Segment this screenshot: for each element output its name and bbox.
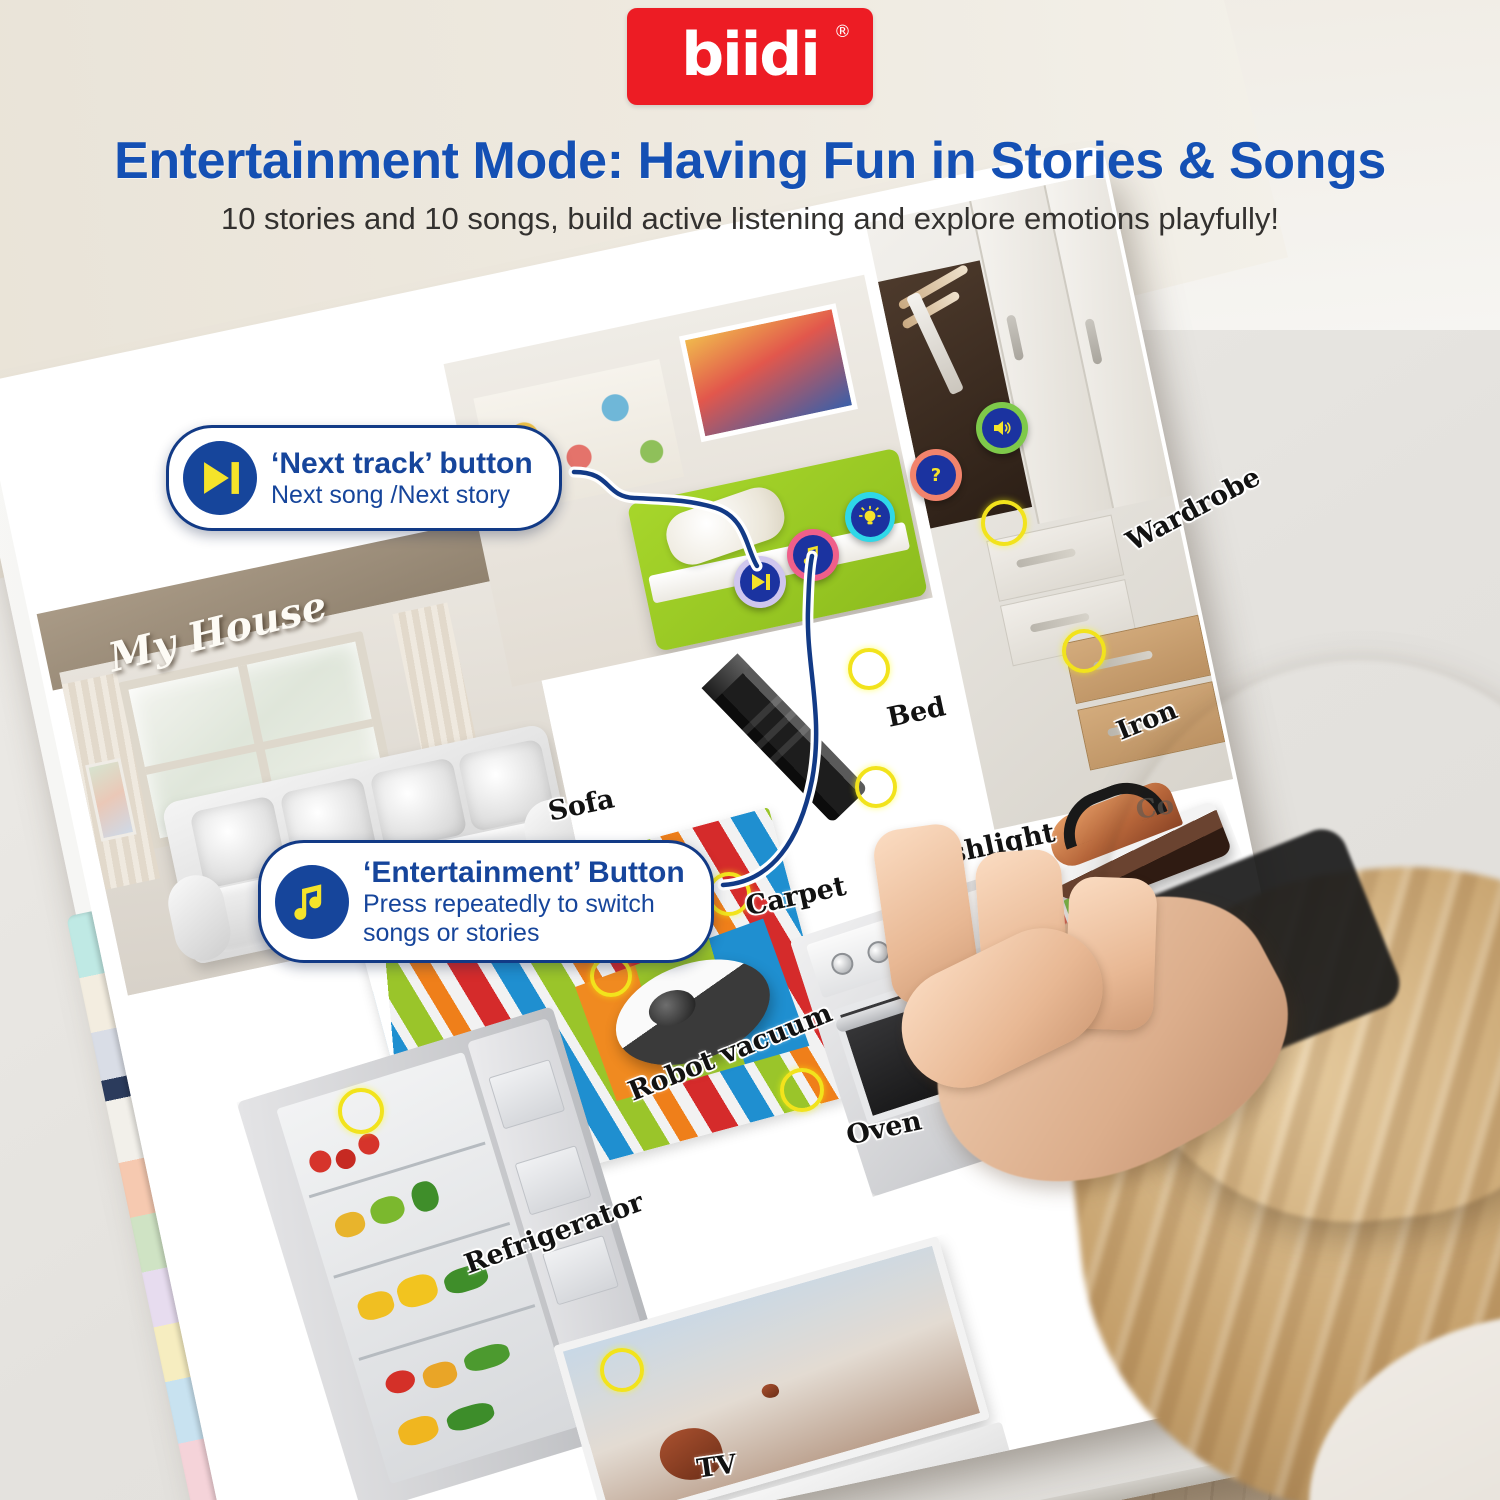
hotspot-oven[interactable] — [780, 1068, 824, 1112]
page-button-light[interactable] — [845, 492, 895, 542]
callout-next-track[interactable]: ‘Next track’ button Next song /Next stor… — [166, 425, 562, 531]
hotspot-wardrobe[interactable] — [981, 500, 1027, 546]
speaker-icon — [982, 408, 1023, 449]
brand-name: biidi — [681, 25, 819, 85]
hotspot-flashlight[interactable] — [855, 766, 897, 808]
page-button-volume[interactable] — [976, 402, 1028, 454]
page-title: Entertainment Mode: Having Fun in Storie… — [0, 131, 1500, 191]
callout-entertainment-title: ‘Entertainment’ Button — [363, 856, 685, 890]
callout-entertainment[interactable]: ‘Entertainment’ Button Press repeatedly … — [258, 840, 714, 963]
hotspot-refrigerator[interactable] — [338, 1088, 384, 1134]
light-bulb-icon — [851, 498, 890, 537]
question-mark-icon: ? — [916, 455, 957, 496]
callout-entertainment-subtitle2: songs or stories — [363, 919, 685, 948]
poster — [679, 303, 858, 442]
page-button-quiz[interactable]: ? — [910, 449, 962, 501]
registered-trademark-icon: ® — [834, 22, 851, 42]
product-infographic: biidi ® Entertainment Mode: Having Fun i… — [0, 0, 1500, 1500]
callout-next-track-subtitle: Next song /Next story — [271, 481, 533, 510]
svg-text:?: ? — [931, 465, 941, 486]
hotspot-tv[interactable] — [600, 1348, 644, 1392]
page-subtitle: 10 stories and 10 songs, build active li… — [0, 201, 1500, 237]
flashlight-graphic — [702, 653, 869, 823]
page-button-next-track[interactable] — [734, 556, 786, 608]
callout-entertainment-subtitle1: Press repeatedly to switch — [363, 890, 685, 919]
music-note-icon — [275, 865, 349, 939]
hotspot-bed[interactable] — [848, 648, 890, 690]
label-tv: TV — [695, 1449, 738, 1484]
music-note-icon — [793, 535, 834, 576]
page-button-entertainment[interactable] — [787, 529, 839, 581]
callout-next-track-title: ‘Next track’ button — [271, 447, 533, 481]
next-track-icon — [740, 562, 781, 603]
next-track-icon — [183, 441, 257, 515]
brand-logo: biidi ® — [627, 8, 873, 105]
